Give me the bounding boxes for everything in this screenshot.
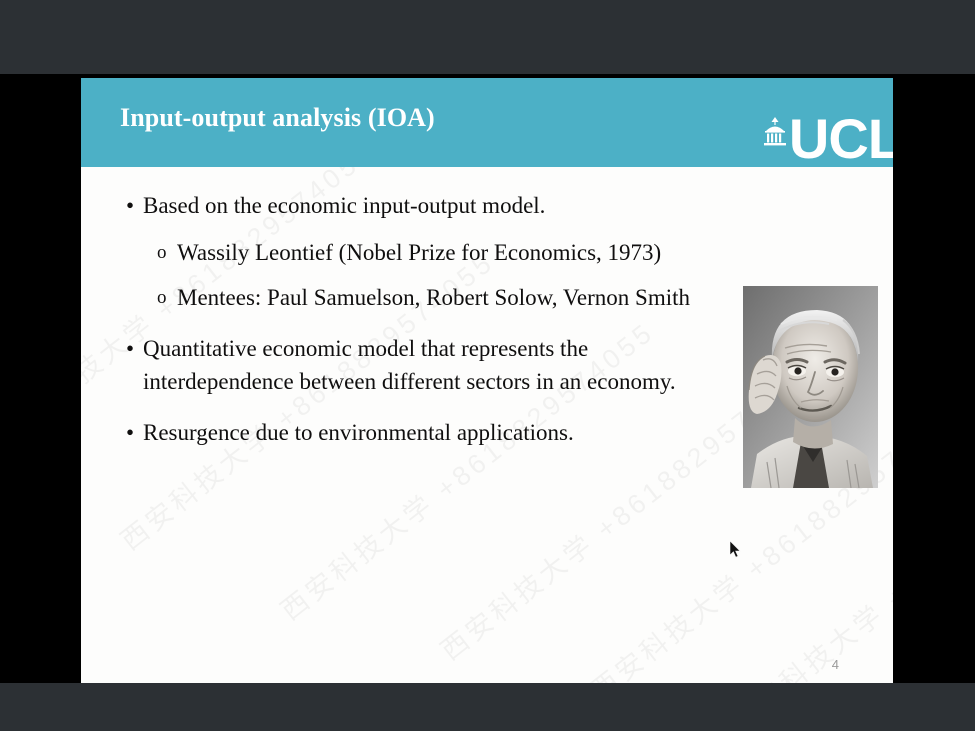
presentation-viewer: Input-output analysis (IOA) — [0, 0, 975, 731]
slide-body-content: • Based on the economic input-output mod… — [81, 167, 893, 683]
bullet-marker-icon: o — [157, 236, 167, 269]
list-item-label: Resurgence due to environmental applicat… — [143, 416, 721, 449]
ucl-portico-building-icon — [762, 117, 788, 152]
bullet-marker-icon: o — [157, 281, 167, 314]
ucl-logo: UCL — [762, 104, 893, 162]
list-item-label: Wassily Leontief (Nobel Prize for Econom… — [177, 236, 721, 269]
slide-canvas[interactable]: Input-output analysis (IOA) — [81, 78, 893, 683]
list-item-label: Mentees: Paul Samuelson, Robert Solow, V… — [177, 281, 721, 314]
bullet-marker-icon: • — [126, 189, 134, 222]
list-item: • Quantitative economic model that repre… — [121, 332, 721, 398]
slide-title-banner: Input-output analysis (IOA) — [81, 78, 893, 167]
bullet-marker-icon: • — [126, 332, 134, 365]
list-item: o Mentees: Paul Samuelson, Robert Solow,… — [121, 281, 721, 314]
list-item: • Based on the economic input-output mod… — [121, 189, 721, 222]
list-item-label: Quantitative economic model that represe… — [143, 332, 721, 398]
viewer-bottom-chrome-bar — [0, 683, 975, 731]
portrait-photo-leontief — [743, 286, 878, 488]
viewer-top-chrome-bar — [0, 0, 975, 74]
page-title: Input-output analysis (IOA) — [120, 103, 435, 133]
slide-page-number: 4 — [832, 657, 839, 672]
list-item: o Wassily Leontief (Nobel Prize for Econ… — [121, 236, 721, 269]
list-item-label: Based on the economic input-output model… — [143, 189, 721, 222]
list-item: • Resurgence due to environmental applic… — [121, 416, 721, 449]
bullet-marker-icon: • — [126, 416, 134, 449]
ucl-wordmark-text: UCL — [789, 116, 893, 162]
bullet-list: • Based on the economic input-output mod… — [121, 189, 721, 449]
